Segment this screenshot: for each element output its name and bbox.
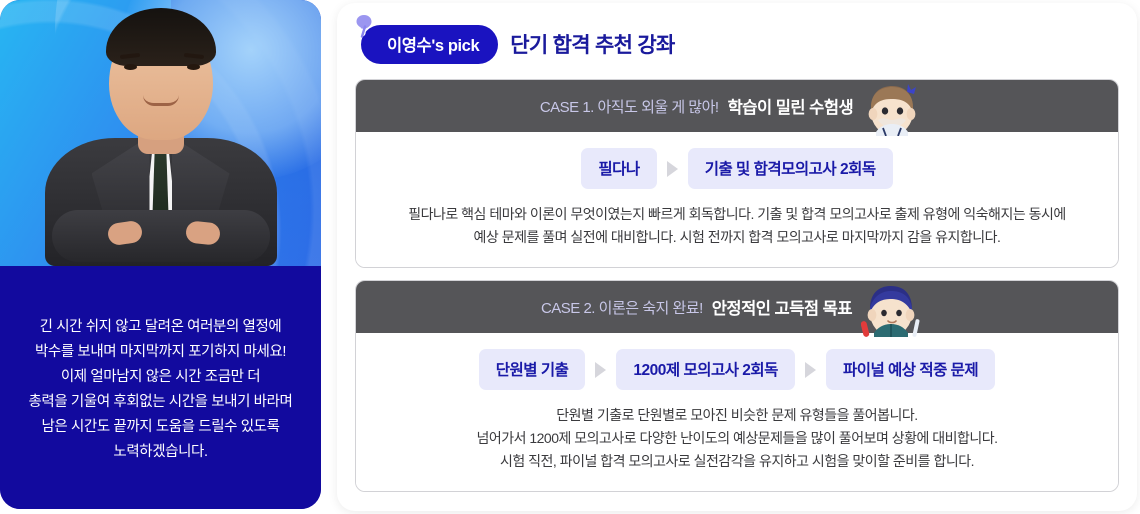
case-description-line: 시험 직전, 파이널 합격 모의고사로 실전감각을 유지하고 시험을 맞이할 준… (376, 450, 1098, 473)
case-header-2: CASE 2. 이론은 숙지 완료! 안정적인 고득점 목표 (356, 281, 1118, 333)
step-badge[interactable]: 단원별 기출 (479, 349, 586, 390)
instructor-figure (36, 28, 286, 266)
step-badge[interactable]: 파이널 예상 적중 문제 (826, 349, 995, 390)
quote-line: 총력을 기울여 후회없는 시간을 보내기 바라며 (28, 390, 292, 415)
quote-line: 이제 얼마남지 않은 시간 조금만 더 (61, 365, 260, 390)
quote-line: 박수를 보내며 마지막까지 포기하지 마세요! (35, 340, 286, 365)
quote-line: 남은 시간도 끝까지 도움을 드릴수 있도록 (41, 415, 279, 440)
step-badge[interactable]: 1200제 모의고사 2회독 (616, 349, 795, 390)
page-root: 긴 시간 쉬지 않고 달려온 여러분의 열정에 박수를 보내며 마지막까지 포기… (0, 0, 1140, 514)
chevron-right-icon (667, 161, 678, 177)
recommendation-card: 이영수's pick 단기 합격 추천 강좌 CASE 1. 아직도 외울 게 … (337, 3, 1137, 511)
step-badge-row-2: 단원별 기출 1200제 모의고사 2회독 파이널 예상 적중 문제 (376, 349, 1098, 390)
case-body-2: 단원별 기출 1200제 모의고사 2회독 파이널 예상 적중 문제 단원별 기… (356, 333, 1118, 491)
page-title: 단기 합격 추천 강좌 (510, 29, 674, 59)
pick-badge-wrap: 이영수's pick (361, 25, 498, 64)
instructor-message: 긴 시간 쉬지 않고 달려온 여러분의 열정에 박수를 보내며 마지막까지 포기… (0, 266, 321, 509)
quote-line: 노력하겠습니다. (113, 440, 207, 465)
case-description-line: 필다나로 핵심 테마와 이론이 무엇이였는지 빠르게 회독합니다. 기출 및 합… (376, 203, 1098, 226)
case-description-line: 넘어가서 1200제 모의고사로 다양한 난이도의 예상문제들을 많이 풀어보며… (376, 427, 1098, 450)
case-label: CASE 2. 이론은 숙지 완료! (541, 297, 703, 318)
step-badge[interactable]: 기출 및 합격모의고사 2회독 (688, 148, 893, 189)
quote-line: 긴 시간 쉬지 않고 달려온 여러분의 열정에 (40, 315, 282, 340)
pin-icon (350, 13, 378, 43)
chevron-right-icon (595, 362, 606, 378)
case-body-1: 필다나 기출 및 합격모의고사 2회독 필다나로 핵심 테마와 이론이 무엇이였… (356, 132, 1118, 267)
case-label: CASE 1. 아직도 외울 게 많아! (540, 96, 719, 117)
student-brown-hair-avatar (862, 80, 924, 132)
instructor-panel: 긴 시간 쉬지 않고 달려온 여러분의 열정에 박수를 보내며 마지막까지 포기… (0, 0, 321, 509)
card-header: 이영수's pick 단기 합격 추천 강좌 (355, 21, 1119, 67)
case-target: 학습이 밀린 수험생 (728, 94, 854, 118)
case-header-1: CASE 1. 아직도 외울 게 많아! 학습이 밀린 수험생 (356, 80, 1118, 132)
student-blue-hair-avatar (861, 281, 923, 333)
case-box-2: CASE 2. 이론은 숙지 완료! 안정적인 고득점 목표 (355, 280, 1119, 492)
step-badge-row-1: 필다나 기출 및 합격모의고사 2회독 (376, 148, 1098, 189)
chevron-right-icon (805, 362, 816, 378)
pick-badge[interactable]: 이영수's pick (361, 25, 498, 64)
case-box-1: CASE 1. 아직도 외울 게 많아! 학습이 밀린 수험생 (355, 79, 1119, 268)
case-description-line: 예상 문제를 풀며 실전에 대비합니다. 시험 전까지 합격 모의고사로 마지막… (376, 226, 1098, 249)
step-badge[interactable]: 필다나 (581, 148, 656, 189)
case-target: 안정적인 고득점 목표 (712, 295, 852, 319)
case-description-line: 단원별 기출로 단원별로 모아진 비슷한 문제 유형들을 풀어봅니다. (376, 404, 1098, 427)
instructor-photo-area (0, 0, 321, 266)
